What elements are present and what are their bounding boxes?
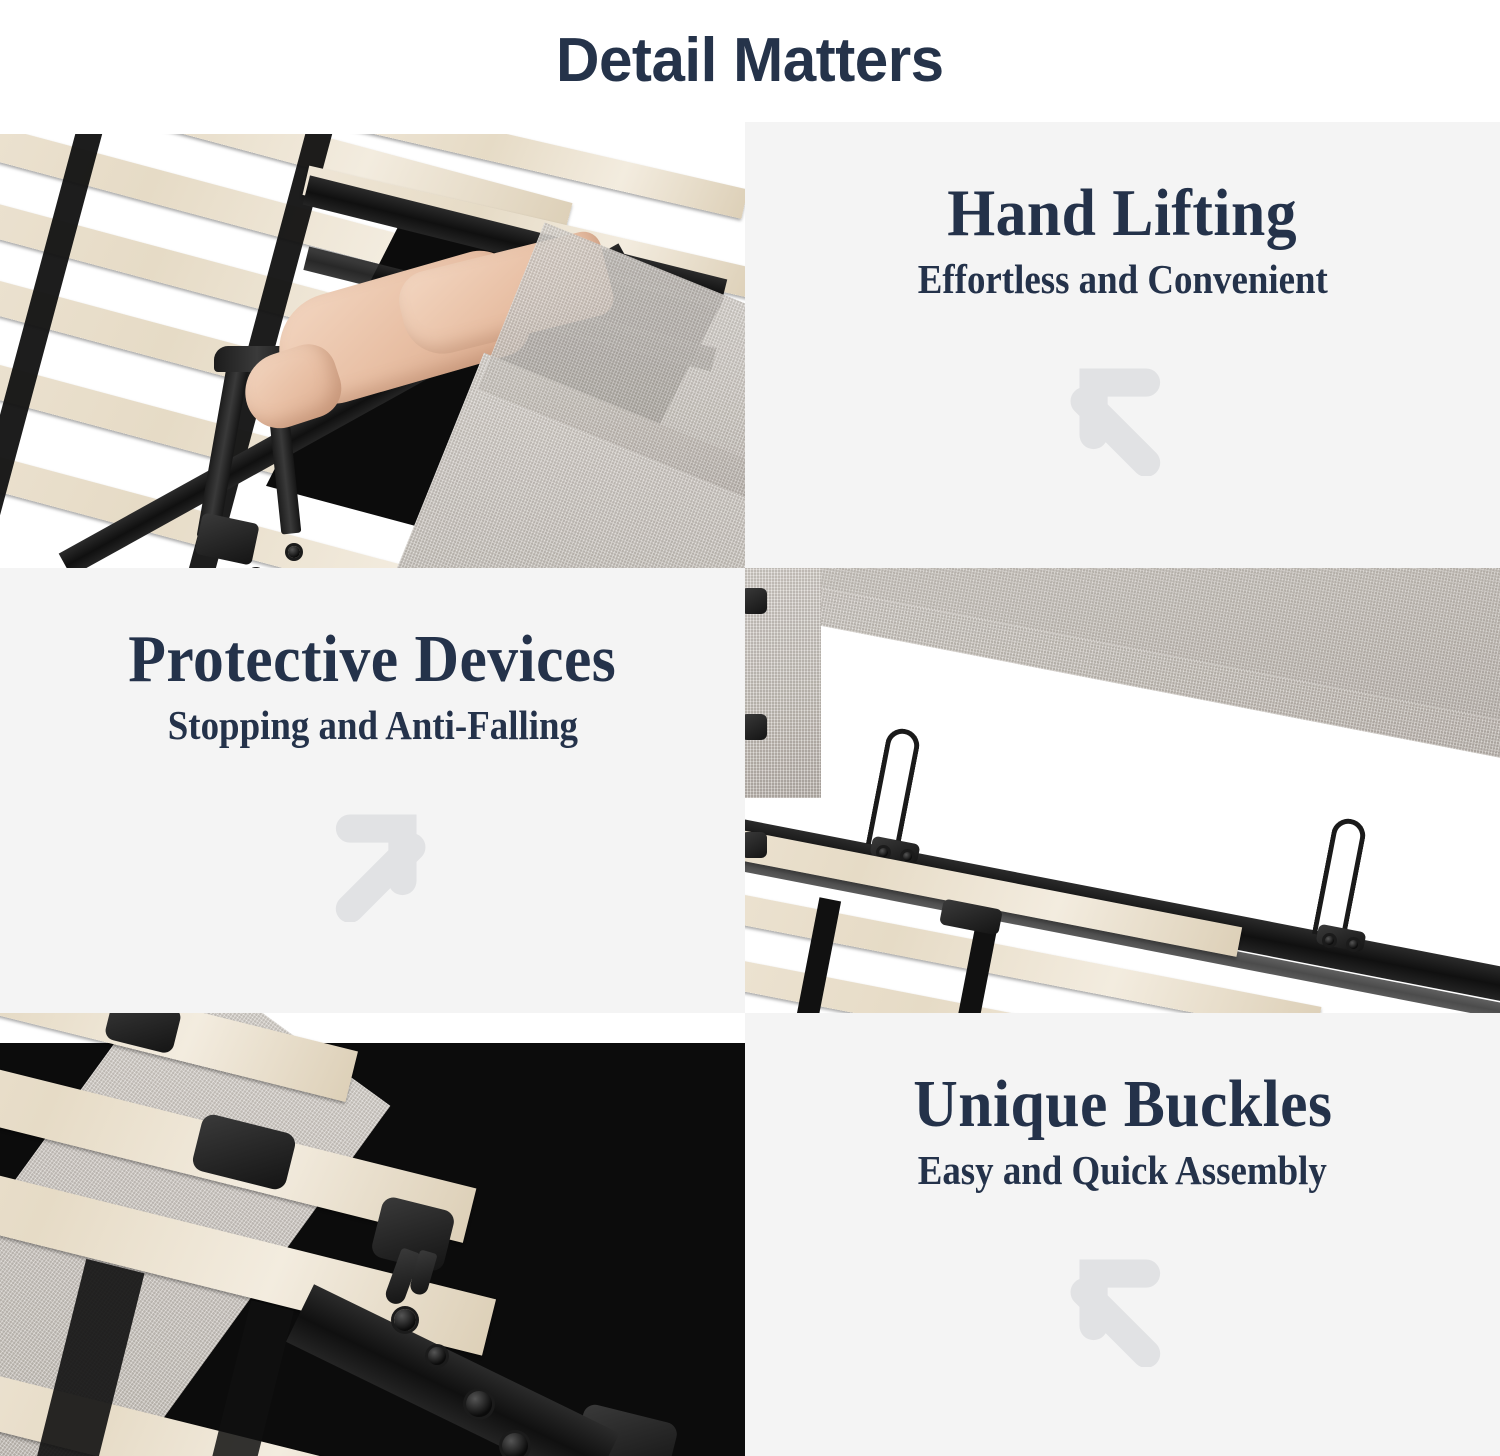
infographic-page: Detail Matters: [0, 0, 1500, 1456]
photo-protective-devices: [745, 568, 1500, 1013]
panel-title-protective-devices: Protective Devices: [128, 624, 616, 695]
arrow-up-right-icon: [309, 794, 437, 922]
feature-grid: Hand Lifting Effortless and Convenient P…: [0, 122, 1500, 1456]
panel-subtitle-hand-lifting: Effortless and Convenient: [917, 257, 1327, 302]
panel-subtitle-protective-devices: Stopping and Anti-Falling: [167, 703, 577, 748]
page-header: Detail Matters: [0, 0, 1500, 122]
panel-title-hand-lifting: Hand Lifting: [948, 178, 1298, 249]
arrow-up-left-icon: [1059, 1239, 1187, 1367]
photo-unique-buckles: [0, 1013, 745, 1456]
panel-title-unique-buckles: Unique Buckles: [913, 1069, 1332, 1140]
text-panel-hand-lifting: Hand Lifting Effortless and Convenient: [745, 122, 1500, 568]
text-panel-protective-devices: Protective Devices Stopping and Anti-Fal…: [0, 568, 745, 1013]
panel-subtitle-unique-buckles: Easy and Quick Assembly: [918, 1148, 1327, 1193]
page-title: Detail Matters: [556, 30, 944, 92]
text-panel-unique-buckles: Unique Buckles Easy and Quick Assembly: [745, 1013, 1500, 1456]
arrow-up-left-icon: [1059, 348, 1187, 476]
photo-hand-lifting: [0, 122, 745, 568]
